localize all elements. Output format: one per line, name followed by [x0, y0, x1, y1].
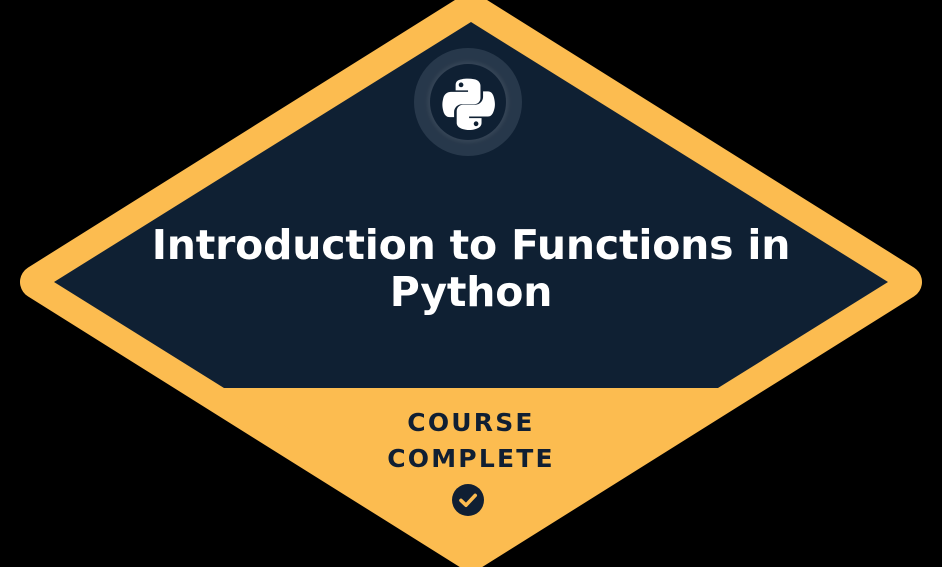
- check-circle-icon: [451, 483, 485, 517]
- course-completion-badge: Introduction to Functions in Python COUR…: [0, 0, 942, 567]
- status-line-course: COURSE: [221, 405, 721, 441]
- course-title: Introduction to Functions in Python: [120, 222, 822, 316]
- status-line-complete: COMPLETE: [221, 441, 721, 477]
- upper-panel: [0, 0, 942, 388]
- completion-status: COURSE COMPLETE: [221, 405, 721, 477]
